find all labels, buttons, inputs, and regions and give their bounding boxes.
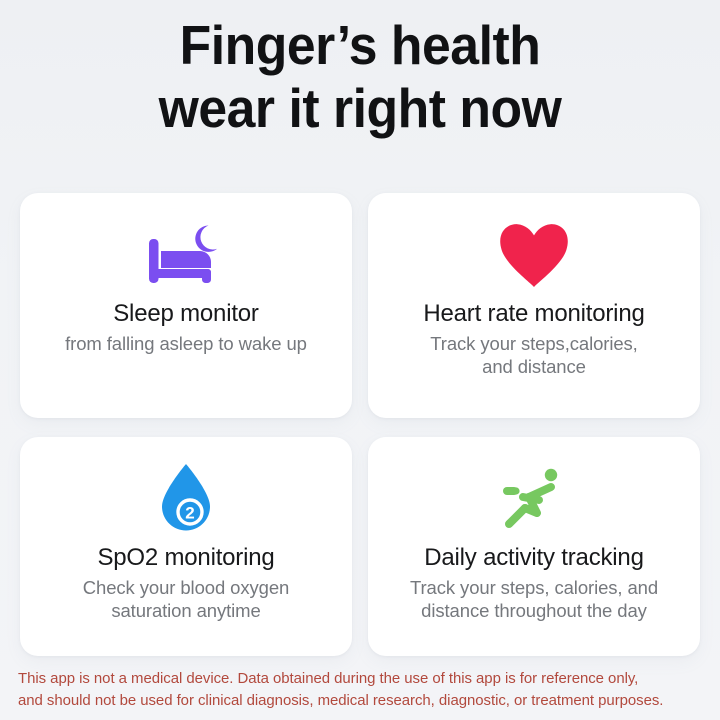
feature-card-subtitle: from falling asleep to wake up <box>65 332 307 355</box>
feature-card-subtitle-line-2: distance throughout the day <box>421 600 647 621</box>
feature-card-subtitle-line-2: saturation anytime <box>111 600 260 621</box>
disclaimer-line-1: This app is not a medical device. Data o… <box>18 668 694 690</box>
feature-card-subtitle: Track your steps,calories, and distance <box>430 332 637 378</box>
feature-card-subtitle: Track your steps, calories, and distance… <box>410 576 658 622</box>
promo-page: Finger’s health wear it right now <box>0 0 720 720</box>
feature-card-title: Daily activity tracking <box>424 543 643 573</box>
heart-icon <box>498 219 570 293</box>
feature-card-title: Heart rate monitoring <box>423 299 644 329</box>
feature-card-heart-rate[interactable]: Heart rate monitoring Track your steps,c… <box>368 193 700 418</box>
feature-card-subtitle-line-1: Check your blood oxygen <box>83 577 289 598</box>
feature-card-subtitle-line-1: Track your steps, calories, and <box>410 577 658 598</box>
spo2-badge-value: 2 <box>185 504 194 523</box>
feature-card-subtitle-line-1: Track your steps,calories, <box>430 333 637 354</box>
water-drop-o2-icon: 2 <box>157 461 215 535</box>
bed-moon-icon <box>145 219 227 293</box>
page-title-line-2: wear it right now <box>22 77 699 140</box>
feature-card-title: Sleep monitor <box>113 299 258 329</box>
disclaimer-line-2: and should not be used for clinical diag… <box>18 690 694 712</box>
feature-card-sleep-monitor[interactable]: Sleep monitor from falling asleep to wak… <box>20 193 352 418</box>
page-title-line-1: Finger’s health <box>22 14 699 77</box>
feature-card-subtitle: Check your blood oxygen saturation anyti… <box>83 576 289 622</box>
feature-card-spo2[interactable]: 2 SpO2 monitoring Check your blood oxyge… <box>20 437 352 656</box>
feature-card-title: SpO2 monitoring <box>97 543 274 573</box>
running-person-icon <box>499 461 569 535</box>
feature-card-subtitle-line-2: and distance <box>482 356 586 377</box>
disclaimer-text: This app is not a medical device. Data o… <box>18 668 694 711</box>
feature-card-daily-activity[interactable]: Daily activity tracking Track your steps… <box>368 437 700 656</box>
feature-card-subtitle-line-1: from falling asleep to wake up <box>65 333 307 354</box>
feature-card-grid: Sleep monitor from falling asleep to wak… <box>20 193 700 656</box>
page-title: Finger’s health wear it right now <box>22 14 699 140</box>
